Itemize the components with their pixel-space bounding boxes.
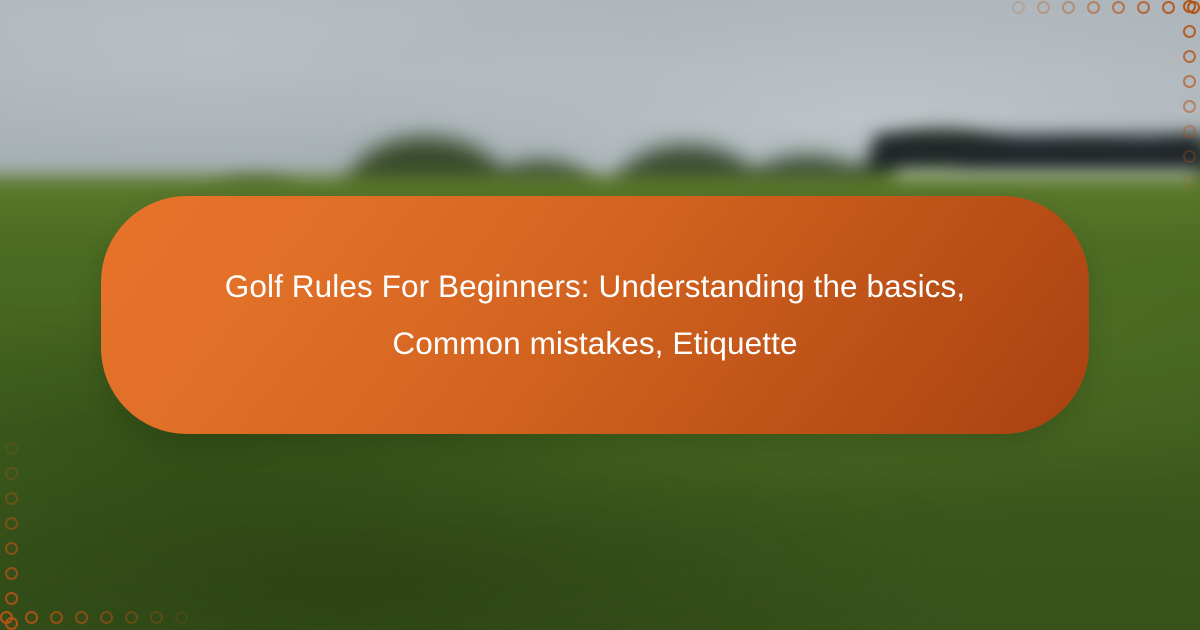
- decor-dot: [1183, 0, 1196, 13]
- decor-dot: [25, 611, 38, 624]
- decor-dot: [1087, 1, 1100, 14]
- decor-dots-bottom-left-vertical: [0, 410, 24, 630]
- decor-dot: [5, 442, 18, 455]
- decor-dot: [1162, 1, 1175, 14]
- page-title: Golf Rules For Beginners: Understanding …: [215, 258, 975, 372]
- decor-dot: [150, 611, 163, 624]
- decor-dot: [5, 542, 18, 555]
- decor-dot: [1112, 1, 1125, 14]
- decor-dot: [5, 492, 18, 505]
- decor-dot: [5, 467, 18, 480]
- decor-dots-top-right-vertical: [1176, 0, 1200, 220]
- decor-dot: [5, 592, 18, 605]
- decor-dot: [1012, 1, 1025, 14]
- social-card-canvas: Golf Rules For Beginners: Understanding …: [0, 0, 1200, 630]
- decor-dots-bottom-left-horizontal: [0, 606, 220, 630]
- decor-dot: [175, 611, 188, 624]
- decor-dot: [1183, 100, 1196, 113]
- decor-dot: [1183, 25, 1196, 38]
- decor-dot: [1137, 1, 1150, 14]
- decor-dot: [1183, 150, 1196, 163]
- decor-dot: [5, 567, 18, 580]
- title-card: Golf Rules For Beginners: Understanding …: [101, 196, 1089, 434]
- decor-dot: [1183, 175, 1196, 188]
- decor-dot: [1183, 75, 1196, 88]
- decor-dot: [125, 611, 138, 624]
- decor-dot: [1183, 125, 1196, 138]
- decor-dot: [100, 611, 113, 624]
- decor-dots-top-right-horizontal: [980, 0, 1200, 24]
- decor-dot: [0, 611, 13, 624]
- decor-dot: [50, 611, 63, 624]
- decor-dot: [1062, 1, 1075, 14]
- decor-dot: [5, 517, 18, 530]
- decor-dot: [1183, 50, 1196, 63]
- decor-dot: [75, 611, 88, 624]
- decor-dot: [1037, 1, 1050, 14]
